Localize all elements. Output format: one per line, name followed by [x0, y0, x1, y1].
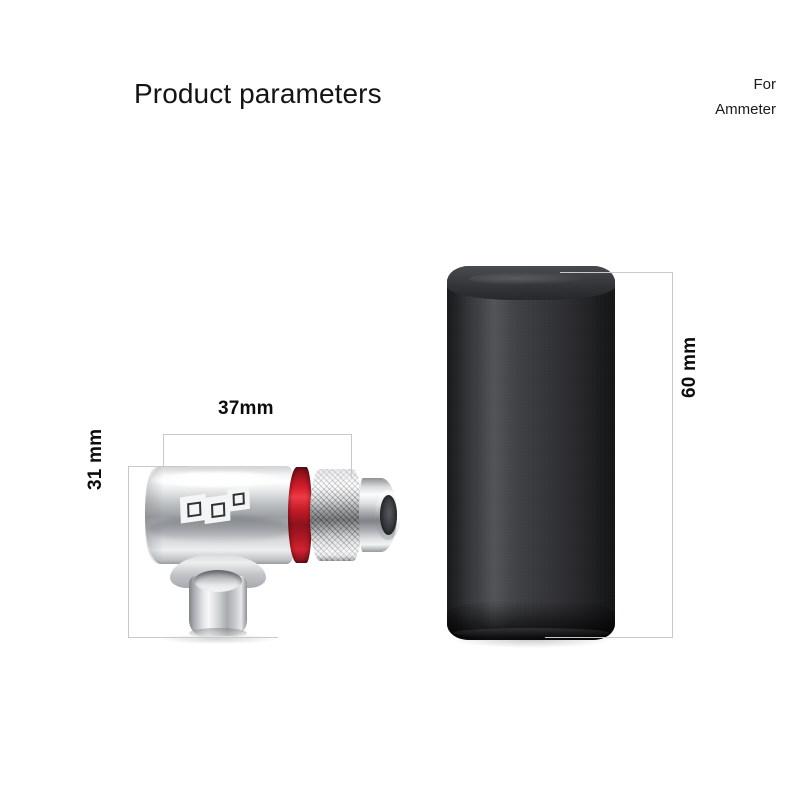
black-cylinder-matte-texture [447, 266, 615, 640]
logo-square-2 [204, 494, 231, 524]
dimension-bracket-37mm-top [163, 434, 352, 435]
dimension-bracket-31mm-bottom-tick [128, 637, 278, 638]
logo-square-3 [227, 487, 250, 512]
dimension-bracket-37mm-left-tick [163, 434, 164, 467]
red-anodized-band [288, 467, 312, 563]
dimension-bracket-31mm-top-tick [128, 466, 188, 467]
logo-square-1 [180, 494, 207, 524]
stem-recess-cup [194, 570, 242, 592]
page-title: Product parameters [134, 78, 382, 110]
dimension-bracket-31mm-left [128, 466, 129, 638]
dimension-label-37mm: 37mm [218, 398, 274, 420]
dimension-label-60mm: 60 mm [680, 337, 699, 398]
dimension-label-31mm: 31 mm [86, 429, 105, 490]
black-cylinder-top-sheen [469, 272, 589, 285]
silver-valve-product [128, 448, 378, 648]
black-cylinder-product [443, 262, 619, 642]
dimension-bracket-37mm-right-tick [351, 434, 352, 478]
nozzle-bore-opening [380, 495, 397, 535]
product-parameters-canvas: Product parameters For Ammeter [0, 0, 800, 800]
silver-valve-barrel-highlight [150, 472, 290, 487]
usage-note: For Ammeter [596, 72, 776, 122]
dimension-bracket-60mm-right [672, 272, 673, 638]
silver-valve-stem [170, 554, 266, 638]
black-cylinder-specular-highlight [477, 276, 517, 628]
usage-note-line-2: Ammeter [596, 97, 776, 122]
dimension-bracket-60mm-bottom-tick [545, 637, 673, 638]
knurled-collar [310, 469, 362, 561]
dimension-bracket-60mm-top-tick [560, 272, 673, 273]
usage-note-line-1: For [596, 72, 776, 97]
knurl-sheen [310, 469, 362, 561]
